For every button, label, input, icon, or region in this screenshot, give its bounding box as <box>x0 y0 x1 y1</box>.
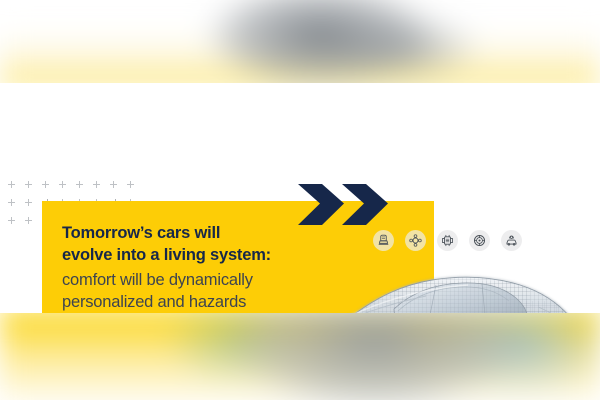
banner-canvas: Tomorrow’s cars will evolve into a livin… <box>0 0 600 400</box>
grid-plus-mark <box>127 181 134 188</box>
grid-plus-mark <box>76 181 83 188</box>
grid-plus-mark <box>110 181 117 188</box>
blurred-bottom-band <box>0 308 600 400</box>
grid-plus-mark <box>93 181 100 188</box>
grid-plus-mark <box>42 181 49 188</box>
seat-icon <box>373 230 394 251</box>
grid-plus-mark <box>25 199 32 206</box>
wheel-icon <box>469 230 490 251</box>
blurred-top-band-fill <box>0 0 600 88</box>
blurred-top-band <box>0 0 600 88</box>
headline-line-1: Tomorrow’s cars will <box>62 223 372 245</box>
engine-icon <box>437 230 458 251</box>
callout-text-block: Tomorrow’s cars will evolve into a livin… <box>62 223 372 313</box>
grid-plus-mark <box>8 181 15 188</box>
content-card: Tomorrow’s cars will evolve into a livin… <box>0 83 600 313</box>
body-line-1: comfort will be dynamically <box>62 269 372 291</box>
blurred-bottom-band-fill <box>0 308 600 400</box>
airbag-icon <box>405 230 426 251</box>
feature-icon-row <box>373 230 522 251</box>
headline: Tomorrow’s cars will evolve into a livin… <box>62 223 372 267</box>
grid-plus-mark <box>59 181 66 188</box>
grid-plus-mark <box>25 217 32 224</box>
grid-plus-mark <box>8 217 15 224</box>
body-line-2: personalized and hazards <box>62 291 372 313</box>
body-text: comfort will be dynamically personalized… <box>62 269 372 313</box>
double-chevron-icon <box>296 182 388 227</box>
grid-plus-mark <box>8 199 15 206</box>
connected-car-icon <box>501 230 522 251</box>
grid-plus-mark <box>25 181 32 188</box>
headline-line-2: evolve into a living system: <box>62 245 372 267</box>
